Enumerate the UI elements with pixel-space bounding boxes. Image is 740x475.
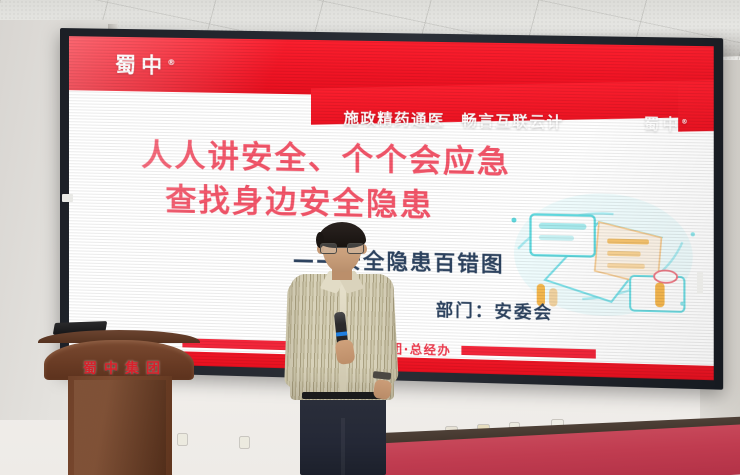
screen-frame-nub-left <box>62 194 73 202</box>
trademark-mark: ® <box>167 58 175 67</box>
photo-scene: 蜀中® 施政精药通医畅言互联云计 蜀中® <box>0 0 740 475</box>
logo-right-text: 蜀中 <box>644 115 682 134</box>
presenter-belt <box>302 392 384 399</box>
slide-headline: 人人讲安全、个个会应急 查找身边安全隐患 <box>141 134 622 233</box>
slogan-part-2: 畅言互联云计 <box>461 111 563 131</box>
company-logo-left: 蜀中® <box>115 49 175 79</box>
presenter-hand-left <box>373 379 392 400</box>
headline-line-1: 人人讲安全、个个会应急 <box>141 138 511 182</box>
slide-top-slogan: 施政精药通医畅言互联云计 <box>344 107 564 132</box>
presenter-pants <box>300 394 386 475</box>
footer-dash-right <box>462 345 596 358</box>
podium-column <box>68 376 172 475</box>
podium-label: 蜀中集团 <box>52 358 198 378</box>
trademark-mark-right: ® <box>681 118 690 125</box>
wall-outlet <box>240 437 249 448</box>
podium: 蜀中集团 <box>38 330 200 475</box>
podium-front-panel: 蜀中集团 <box>44 340 194 380</box>
presenter <box>278 222 408 475</box>
screen-frame-nub-right <box>697 272 703 294</box>
presenter-hand-holding-mic <box>334 339 355 365</box>
company-logo-right: 蜀中® <box>644 113 691 135</box>
slogan-part-1: 施政精药通医 <box>344 109 445 129</box>
slide-department: 部门：安委会 <box>436 295 554 323</box>
eyeglasses-icon <box>320 243 364 254</box>
